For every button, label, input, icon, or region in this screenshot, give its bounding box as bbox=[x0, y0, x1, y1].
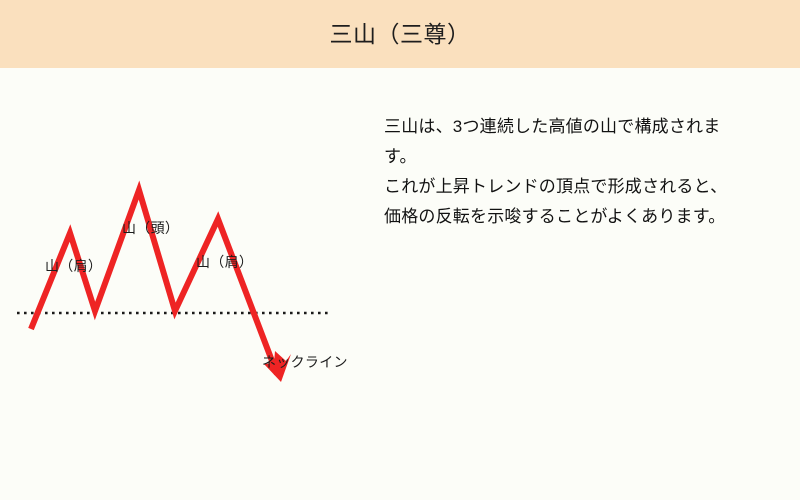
description-line: 価格の反転を示唆することがよくあります。 bbox=[384, 202, 774, 232]
page-title: 三山（三尊） bbox=[0, 0, 800, 68]
chart-label-right-shoulder: 山（肩） bbox=[196, 252, 253, 272]
description-block: 三山は、3つ連続した高値の山で構成されま す。 これが上昇トレンドの頂点で形成さ… bbox=[384, 112, 774, 232]
chart-illustration: 山（肩） 山（頭） 山（肩） ネックライン bbox=[0, 68, 370, 500]
chart-label-head: 山（頭） bbox=[122, 218, 179, 238]
chart-label-neckline: ネックライン bbox=[262, 352, 348, 372]
chart-label-left-shoulder: 山（肩） bbox=[45, 256, 102, 276]
page-root: 三山（三尊） 山（肩） 山（頭） 山（肩） ネックライン 三山は、3つ連続した高… bbox=[0, 0, 800, 500]
header-bar: 三山（三尊） bbox=[0, 0, 800, 68]
head-and-shoulders-chart-svg bbox=[0, 68, 370, 500]
description-line: これが上昇トレンドの頂点で形成されると、 bbox=[384, 172, 774, 202]
description-line: す。 bbox=[384, 142, 774, 172]
description-line: 三山は、3つ連続した高値の山で構成されま bbox=[384, 112, 774, 142]
